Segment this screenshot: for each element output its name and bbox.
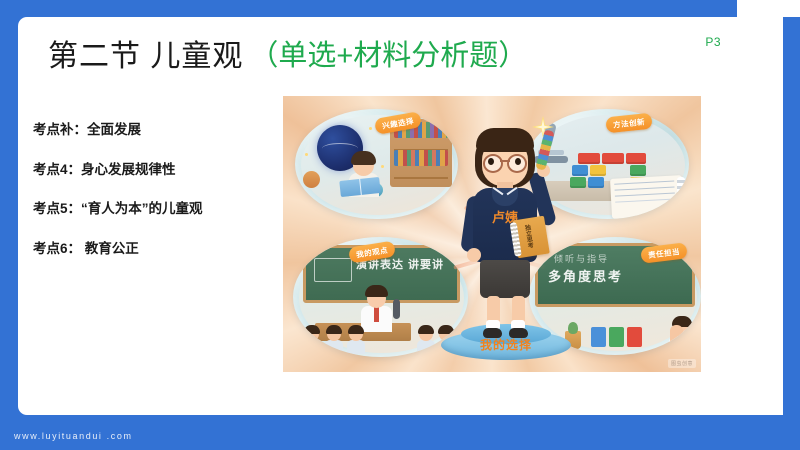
key-point-item: 考点补：全面发展 <box>33 123 288 137</box>
page-title: 第二节 儿童观（单选+材料分析题） <box>48 31 527 75</box>
key-point-item: 考点5：“育人为本”的儿童观 <box>33 202 288 216</box>
title-sub-text: （单选+材料分析题） <box>249 40 527 72</box>
lego-brick <box>570 177 586 188</box>
top-right-notch <box>737 0 800 17</box>
notebook-icon: 独立思考 <box>512 216 550 259</box>
notebook-label: 独立思考 <box>522 224 533 249</box>
figure-hair-fringe <box>476 128 534 152</box>
blackboard-text: 多角度思考 <box>548 266 623 285</box>
planet-icon <box>303 171 320 188</box>
illustration-image: 演讲表达 讲要讲 <box>283 96 701 372</box>
star-icon <box>309 119 312 122</box>
star-icon <box>305 153 308 156</box>
student-hair <box>351 151 376 165</box>
microphone-icon <box>393 299 400 319</box>
audience-student <box>347 327 365 353</box>
star-icon <box>381 165 384 168</box>
slide-root: 第二节 儿童观（单选+材料分析题） P3 考点补：全面发展 考点4：身心发展规律… <box>0 0 800 450</box>
recycle-bin-icon <box>591 327 606 347</box>
audience-student <box>303 327 321 353</box>
figure-left-hand <box>467 248 481 262</box>
star-icon <box>369 127 372 130</box>
lego-brick <box>590 165 606 176</box>
figure-eye <box>488 158 494 165</box>
audience-student <box>417 327 435 353</box>
books-row <box>394 150 448 166</box>
page-number-label: P3 <box>705 35 721 49</box>
figure-eye <box>515 158 521 165</box>
necktie <box>374 307 379 322</box>
slide-content-card: 第二节 儿童观（单选+材料分析题） P3 考点补：全面发展 考点4：身心发展规律… <box>18 17 783 415</box>
key-point-item: 考点4：身心发展规律性 <box>33 163 288 177</box>
sparkle-icon <box>532 116 554 138</box>
figure-skirt <box>480 260 530 298</box>
speaker-hair <box>365 285 388 297</box>
lego-brick <box>602 153 624 164</box>
raised-hand-icon <box>670 325 683 349</box>
figure-shoe <box>483 328 502 338</box>
audience-student <box>325 327 343 353</box>
lego-brick <box>630 165 646 176</box>
title-main-text: 第二节 儿童观 <box>48 40 243 73</box>
lego-brick <box>578 153 600 164</box>
chalk-drawing <box>314 258 352 282</box>
lego-brick <box>588 177 604 188</box>
recycle-bin-icon <box>609 327 624 347</box>
footer-url: www.luyituandui .com <box>14 431 133 441</box>
glasses-bridge <box>500 160 510 162</box>
lego-brick <box>626 153 646 164</box>
figure-shoe <box>509 328 528 338</box>
image-watermark: 图虫创意 <box>668 359 696 368</box>
center-figure: 卢姨 独立思考 <box>458 124 554 344</box>
key-point-item: 考点6： 教育公正 <box>33 242 288 256</box>
recycle-bin-icon <box>627 327 642 347</box>
illustration-background: 演讲表达 讲要讲 <box>283 96 701 372</box>
notebook-paper <box>610 175 684 219</box>
spiral-binding <box>677 177 685 217</box>
key-points-list: 考点补：全面发展 考点4：身心发展规律性 考点5：“育人为本”的儿童观 考点6：… <box>33 123 288 281</box>
lego-brick <box>572 165 588 176</box>
blackboard-subtext: 倾听与指导 <box>554 252 609 265</box>
